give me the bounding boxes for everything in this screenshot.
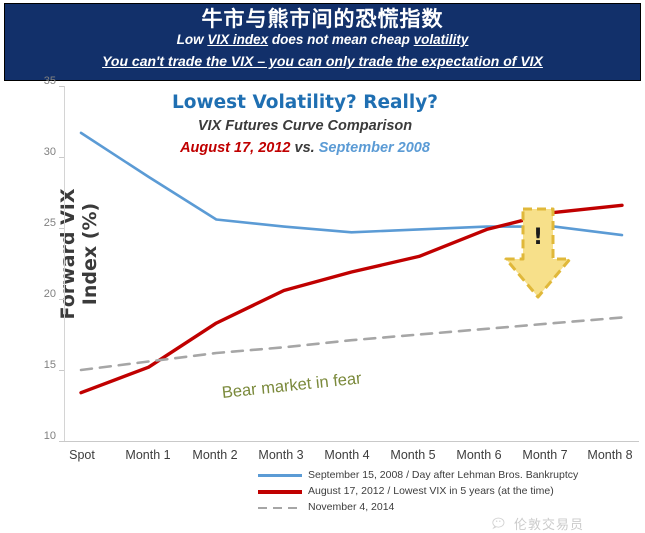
y-axis-ticks: 35 30 25 20 15 10 <box>22 82 56 442</box>
x-tick-month-1: Month 1 <box>113 448 183 462</box>
wechat-icon <box>492 517 509 531</box>
legend-label-2014: November 4, 2014 <box>308 501 394 513</box>
x-axis-line <box>64 441 639 442</box>
header-banner: 牛市与熊市间的恐慌指数 Low VIX index does not mean … <box>4 3 641 81</box>
legend-label-2012: August 17, 2012 / Lowest VIX in 5 years … <box>308 485 554 497</box>
x-tick-month-5: Month 5 <box>378 448 448 462</box>
y-tick-30: 30 <box>22 146 56 158</box>
exclamation-mark: ! <box>503 225 573 250</box>
date-label-2008: September 2008 <box>319 140 430 156</box>
chart-date-comparison: August 17, 2012 vs. September 2008 <box>140 138 470 158</box>
chart-figure: Forward VIX Index (%) 35 30 25 20 15 10 … <box>0 82 645 488</box>
x-tick-month-3: Month 3 <box>246 448 316 462</box>
x-tick-month-6: Month 6 <box>444 448 514 462</box>
x-tick-month-2: Month 2 <box>180 448 250 462</box>
down-arrow-icon <box>503 207 573 300</box>
watermark: 伦敦交易员 <box>492 514 584 533</box>
legend-swatch-2014 <box>258 502 302 512</box>
chart-legend: September 15, 2008 / Day after Lehman Br… <box>258 467 578 515</box>
y-tick-15: 15 <box>22 359 56 371</box>
y-tick-35: 35 <box>22 75 56 87</box>
banner-subtitle-underline-2: volatility <box>414 32 469 47</box>
banner-subtitle-pre: Low <box>177 32 208 47</box>
date-vs-separator: vs. <box>290 140 318 156</box>
x-tick-month-7: Month 7 <box>510 448 580 462</box>
legend-label-2008: September 15, 2008 / Day after Lehman Br… <box>308 469 578 481</box>
chart-subtitle: VIX Futures Curve Comparison <box>140 116 470 136</box>
banner-tagline: You can't trade the VIX – you can only t… <box>102 53 543 70</box>
chart-title: Lowest Volatility? Really? <box>140 92 470 114</box>
banner-subtitle-mid: does not mean cheap <box>268 32 414 47</box>
x-tick-month-8: Month 8 <box>575 448 645 462</box>
y-tick-25: 25 <box>22 217 56 229</box>
legend-item-2012: August 17, 2012 / Lowest VIX in 5 years … <box>258 483 578 499</box>
chart-title-block: Lowest Volatility? Really? VIX Futures C… <box>140 92 470 158</box>
banner-title: 牛市与熊市间的恐慌指数 <box>202 7 444 32</box>
y-tick-20: 20 <box>22 288 56 300</box>
watermark-text: 伦敦交易员 <box>514 514 584 533</box>
y-tick-10: 10 <box>22 430 56 442</box>
legend-swatch-2008 <box>258 470 302 480</box>
x-tick-month-4: Month 4 <box>312 448 382 462</box>
banner-subtitle-underline-1: VIX index <box>207 32 268 47</box>
x-tick-spot: Spot <box>47 448 117 462</box>
series-line <box>81 318 622 371</box>
banner-subtitle: Low VIX index does not mean cheap volati… <box>177 32 469 48</box>
warning-arrow-callout: ! <box>503 207 573 300</box>
legend-item-2008: September 15, 2008 / Day after Lehman Br… <box>258 467 578 483</box>
date-label-2012: August 17, 2012 <box>180 140 290 156</box>
legend-item-2014: November 4, 2014 <box>258 499 578 515</box>
